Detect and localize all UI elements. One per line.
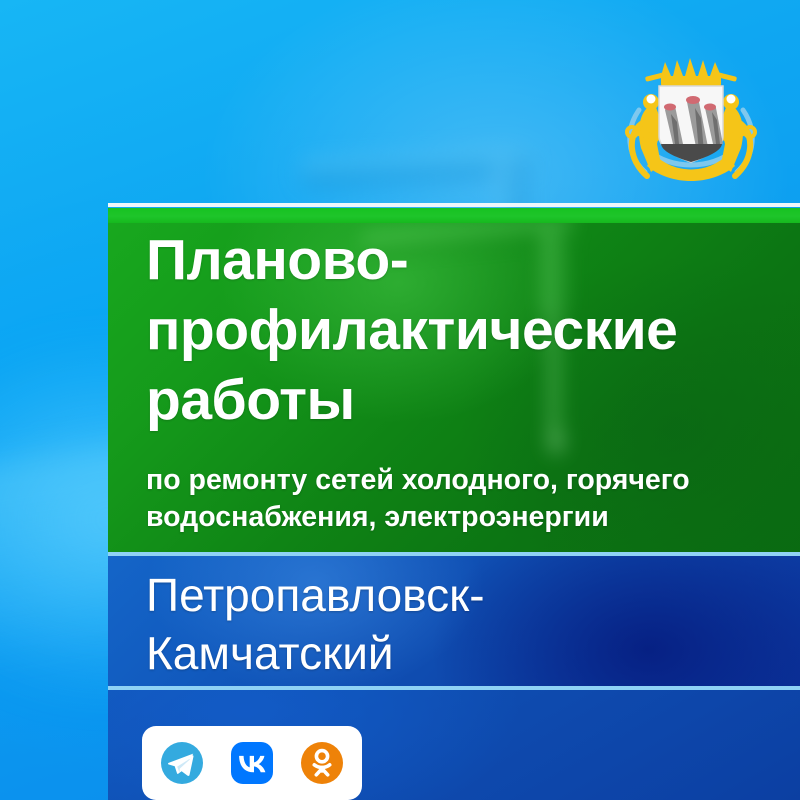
poster-image: Планово- профилактические работы по ремо… bbox=[0, 0, 800, 800]
footer-band bbox=[108, 690, 800, 800]
page-subtitle: по ремонту сетей холодного, горячего вод… bbox=[146, 462, 798, 536]
page-title: Планово- профилактические работы bbox=[146, 225, 786, 435]
social-links-panel bbox=[142, 726, 362, 800]
coat-of-arms-icon bbox=[617, 52, 765, 194]
odnoklassniki-icon[interactable] bbox=[301, 742, 343, 784]
green-band-top-rule bbox=[108, 203, 800, 207]
telegram-icon[interactable] bbox=[161, 742, 203, 784]
green-band-accent-strip bbox=[108, 208, 800, 223]
city-name: Петропавловск- Камчатский bbox=[146, 566, 786, 682]
vk-icon[interactable] bbox=[231, 742, 273, 784]
content-panel: Планово- профилактические работы по ремо… bbox=[108, 200, 800, 800]
